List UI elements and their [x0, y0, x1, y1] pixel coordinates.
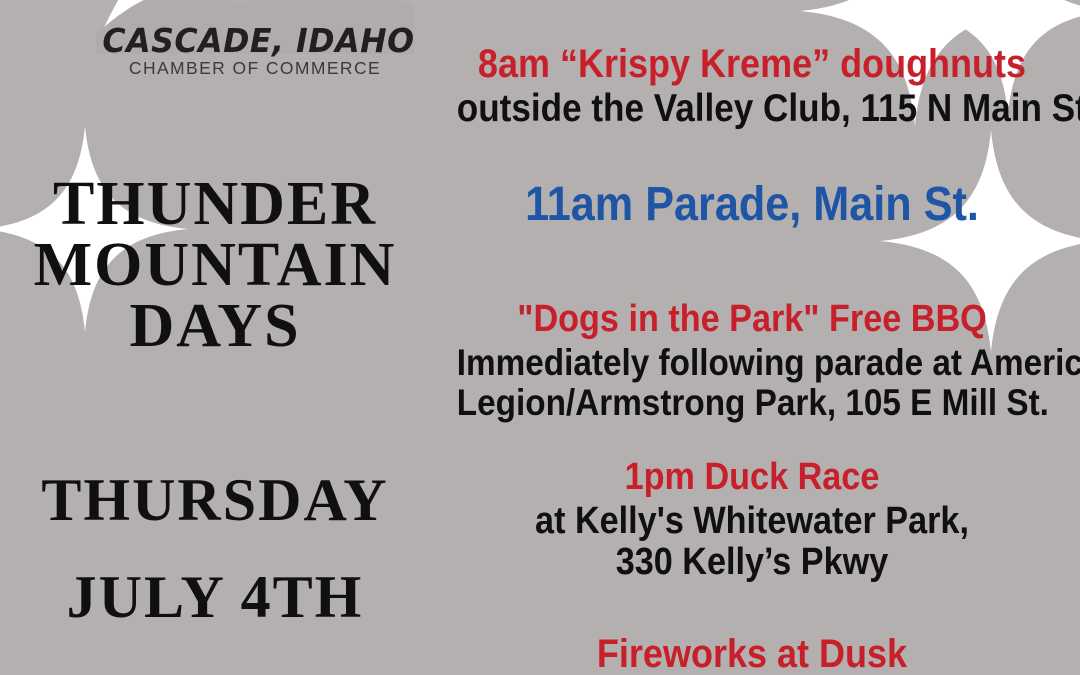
event-title-line: THUNDER [0, 174, 430, 235]
schedule-detail: Immediately following parade at American… [457, 343, 1047, 424]
schedule-detail-line: at Kelly's Whitewater Park, [457, 501, 1047, 543]
schedule-detail-line: Immediately following parade at American [457, 343, 1047, 384]
schedule-item-duck-race: 1pm Duck Race at Kelly's Whitewater Park… [424, 458, 1080, 584]
schedule-heading: 11am Parade, Main St. [457, 180, 1047, 230]
event-title: THUNDER MOUNTAIN DAYS [0, 174, 430, 356]
schedule-item-doughnuts: 8am “Krispy Kreme” doughnuts outside the… [424, 44, 1080, 130]
schedule-column: 8am “Krispy Kreme” doughnuts outside the… [424, 0, 1080, 675]
schedule-item-bbq: "Dogs in the Park" Free BBQ Immediately … [424, 300, 1080, 424]
schedule-detail-line: Legion/Armstrong Park, 105 E Mill St. [457, 383, 1047, 424]
schedule-detail-line: 330 Kelly’s Pkwy [457, 542, 1047, 584]
schedule-item-fireworks: Fireworks at Dusk [424, 634, 1080, 675]
event-date-line: JULY 4TH [0, 549, 430, 646]
left-column: THUNDER MOUNTAIN DAYS THURSDAY JULY 4TH [0, 0, 430, 675]
event-poster: CASCADE, IDAHO CHAMBER OF COMMERCE THUND… [0, 0, 1080, 675]
schedule-heading: 1pm Duck Race [457, 458, 1047, 498]
event-date-line: THURSDAY [0, 452, 430, 549]
event-title-line: MOUNTAIN [0, 235, 430, 296]
schedule-heading: "Dogs in the Park" Free BBQ [457, 300, 1047, 340]
schedule-item-parade: 11am Parade, Main St. [424, 180, 1080, 230]
schedule-heading: 8am “Krispy Kreme” doughnuts [457, 44, 1047, 86]
event-date: THURSDAY JULY 4TH [0, 452, 430, 646]
schedule-heading: Fireworks at Dusk [457, 634, 1047, 675]
event-title-line: DAYS [0, 296, 430, 357]
schedule-detail: at Kelly's Whitewater Park, 330 Kelly’s … [457, 501, 1047, 585]
schedule-detail-line: outside the Valley Club, 115 N Main St. [457, 88, 1047, 131]
schedule-detail: outside the Valley Club, 115 N Main St. [457, 88, 1047, 131]
